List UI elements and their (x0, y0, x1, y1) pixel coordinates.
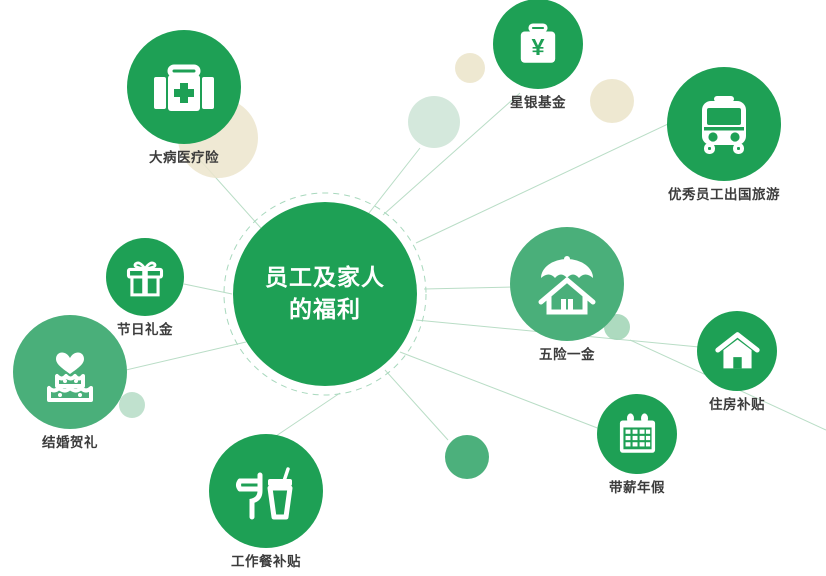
center-node[interactable]: 员工及家人 的福利 (233, 202, 417, 386)
node-circle-star-silver-fund[interactable]: ¥ (493, 0, 583, 89)
benefit-node-meal-subsidy[interactable]: 工作餐补贴 (209, 434, 323, 569)
line-decor-green-dot (385, 370, 448, 440)
node-label-overseas-travel-award: 优秀员工出国旅游 (668, 188, 780, 202)
node-label-meal-subsidy: 工作餐补贴 (231, 555, 301, 569)
benefit-node-critical-illness-insurance[interactable]: 大病医疗险 (127, 30, 241, 165)
svg-text:¥: ¥ (531, 34, 544, 60)
node-circle-housing-subsidy[interactable] (697, 311, 777, 391)
benefit-node-holiday-gift-money[interactable]: 节日礼金 (106, 238, 184, 337)
calendar-icon (615, 412, 660, 457)
node-label-housing-subsidy: 住房补贴 (709, 398, 765, 412)
benefit-node-star-silver-fund[interactable]: ¥星银基金 (493, 0, 583, 110)
benefits-mindmap-diagram: 员工及家人 的福利 大病医疗险 ¥星银基金 优秀员工出国旅游 (0, 0, 826, 576)
center-title-line-2: 的福利 (289, 296, 361, 322)
node-label-wedding-gift: 结婚贺礼 (42, 436, 98, 450)
bus-icon (692, 92, 756, 156)
center-title-line-1: 员工及家人 (265, 264, 385, 290)
node-label-star-silver-fund: 星银基金 (510, 96, 566, 110)
node-label-paid-annual-leave: 带薪年假 (609, 481, 665, 495)
benefit-node-overseas-travel-award[interactable]: 优秀员工出国旅游 (667, 67, 781, 202)
line-to-social-insurance (424, 287, 512, 289)
decor-circle-mint-circle-upper-mid (408, 96, 460, 148)
cake-heart-icon (38, 340, 102, 404)
line-to-paid-annual-leave (400, 352, 600, 429)
benefit-node-paid-annual-leave[interactable]: 带薪年假 (597, 394, 677, 495)
house-icon (715, 329, 760, 374)
node-label-critical-illness-insurance: 大病医疗险 (149, 151, 219, 165)
benefit-node-social-insurance-housing-fund[interactable]: 五险一金 (510, 227, 624, 362)
umbrella-house-icon (535, 252, 599, 316)
line-to-overseas-travel (416, 124, 668, 243)
node-label-social-insurance-housing-fund: 五险一金 (539, 348, 595, 362)
node-circle-overseas-travel-award[interactable] (667, 67, 781, 181)
node-circle-meal-subsidy[interactable] (209, 434, 323, 548)
node-circle-paid-annual-leave[interactable] (597, 394, 677, 474)
node-circle-social-insurance-housing-fund[interactable] (510, 227, 624, 341)
line-to-holiday-gift (184, 284, 232, 294)
medical-kit-icon (152, 55, 216, 119)
node-circle-holiday-gift-money[interactable] (106, 238, 184, 316)
money-briefcase-icon: ¥ (513, 19, 563, 69)
node-label-holiday-gift-money: 节日礼金 (117, 323, 173, 337)
gift-icon (123, 255, 167, 299)
decor-circle-green-dot-lower-mid (445, 435, 489, 479)
line-to-wedding-gift (126, 342, 246, 370)
line-to-meal-subsidy (276, 393, 340, 436)
node-circle-critical-illness-insurance[interactable] (127, 30, 241, 144)
decor-circle-cream-circle-small-upper (455, 53, 485, 83)
benefit-node-housing-subsidy[interactable]: 住房补贴 (697, 311, 777, 412)
decor-circle-cream-circle-upper-right (590, 79, 634, 123)
center-title: 员工及家人 的福利 (265, 262, 385, 325)
meal-icon (234, 459, 298, 523)
